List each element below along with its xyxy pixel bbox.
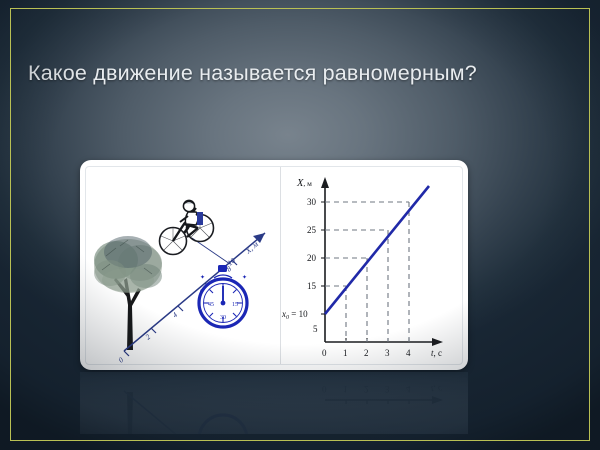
svg-text:0: 0 — [322, 384, 327, 394]
axis-tick-2: 2 — [144, 332, 153, 341]
reflection-graph: 01 23 4 t, c — [281, 372, 468, 434]
stopwatch-numeral-15: 15 — [232, 302, 238, 308]
bike-scene-svg: 0 2 4 6 8 10 X, м — [80, 160, 280, 370]
y-tick-20: 20 — [307, 253, 317, 263]
axis-tick-0: 0 — [117, 355, 126, 364]
bike-scene-panel: 0 2 4 6 8 10 X, м — [80, 160, 280, 370]
distance-axis-label: X, м — [243, 240, 260, 257]
reflection-tint — [80, 372, 468, 434]
svg-text:✦: ✦ — [200, 274, 205, 281]
y-tick-25: 25 — [307, 225, 317, 235]
illustration-card: 0 2 4 6 8 10 X, м — [80, 160, 468, 370]
x-tick-1: 1 — [343, 348, 348, 358]
cyclist-icon — [160, 200, 214, 254]
guide-lines — [325, 202, 409, 342]
svg-text:3: 3 — [385, 384, 390, 394]
slide: 0 2 4 6 8 10 X, м — [0, 0, 600, 450]
svg-text:1: 1 — [343, 384, 348, 394]
card-reflection: 01 23 4 t, c — [80, 372, 468, 434]
page-title: Какое движение называется равномерным? — [28, 58, 488, 89]
stopwatch-numeral-45: 45 — [208, 302, 214, 308]
y-tick-30: 30 — [307, 197, 317, 207]
svg-text:4: 4 — [406, 384, 411, 394]
initial-position-label: x0 = 10 — [281, 309, 308, 321]
y-tick-5: 5 — [313, 324, 318, 334]
xt-graph-svg: X, м 30 25 20 15 5 x0 = 10 0 1 2 3 4 t, … — [281, 160, 468, 370]
card-surface: 0 2 4 6 8 10 X, м — [80, 160, 468, 370]
graph-panel: X, м 30 25 20 15 5 x0 = 10 0 1 2 3 4 t, … — [281, 160, 468, 370]
y-axis-label: X, м — [296, 178, 312, 189]
tree-icon — [94, 236, 162, 350]
x-tick-3: 3 — [385, 348, 390, 358]
stopwatch-numeral-30: 30 — [220, 315, 226, 321]
reflection-bike-scene — [80, 372, 280, 434]
stopwatch-icon: 45 15 30 ✦ ✦ — [199, 265, 247, 327]
x-tick-0: 0 — [322, 348, 327, 358]
svg-text:t, c: t, c — [431, 384, 442, 394]
svg-text:2: 2 — [364, 384, 369, 394]
x-tick-4: 4 — [406, 348, 411, 358]
x-axis-label: t, c — [431, 348, 442, 358]
svg-text:✦: ✦ — [242, 274, 247, 281]
y-tick-15: 15 — [307, 281, 317, 291]
axis-tick-4: 4 — [171, 310, 180, 319]
data-series-line — [325, 186, 429, 314]
x-tick-2: 2 — [364, 348, 369, 358]
